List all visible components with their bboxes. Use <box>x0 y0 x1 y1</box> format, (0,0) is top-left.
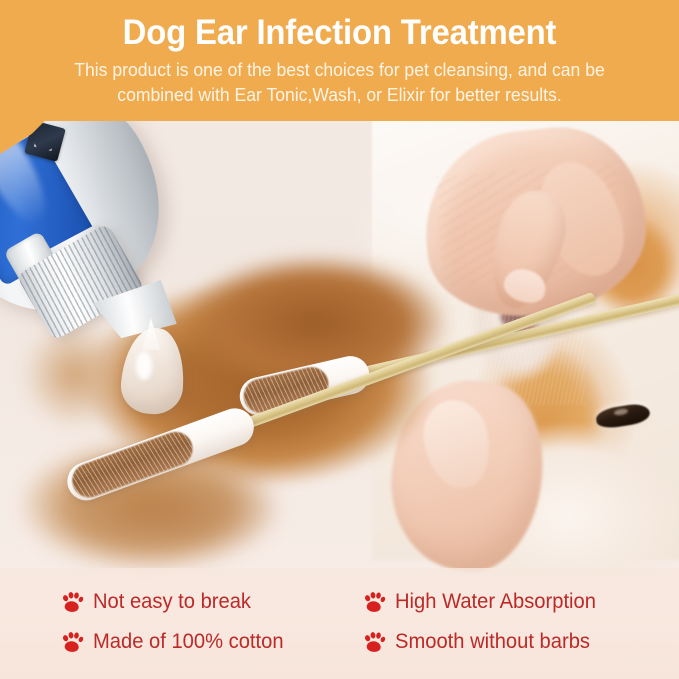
paw-print-icon <box>362 630 386 654</box>
header-subtitle-line1: This product is one of the best choices … <box>74 59 605 80</box>
stain-shadow <box>20 470 320 580</box>
feature-label: High Water Absorption <box>395 590 596 614</box>
feature-item: High Water Absorption <box>362 590 604 614</box>
feature-item: Made of 100% cotton <box>60 630 291 654</box>
feature-item: Smooth without barbs <box>362 630 598 654</box>
feature-list: Not easy to breakMade of 100% cottonHigh… <box>0 568 679 679</box>
paw-print-icon <box>60 630 84 654</box>
page-title: Dog Ear Infection Treatment <box>20 0 658 53</box>
product-infographic: Dog Ear Infection Treatment This product… <box>0 0 679 679</box>
header-subtitle-line2: combined with Ear Tonic,Wash, or Elixir … <box>117 84 561 105</box>
header-banner: Dog Ear Infection Treatment This product… <box>0 0 679 121</box>
feature-label: Made of 100% cotton <box>93 630 284 654</box>
feature-item: Not easy to break <box>60 590 258 614</box>
paw-print-icon <box>60 590 84 614</box>
liquid-droplet-highlight <box>136 352 152 380</box>
header-subtitle: This product is one of the best choices … <box>17 53 662 107</box>
paw-print-icon <box>362 590 386 614</box>
feature-label: Smooth without barbs <box>395 630 590 654</box>
feature-label: Not easy to break <box>93 590 251 614</box>
feature-grid: Not easy to breakMade of 100% cottonHigh… <box>0 568 679 679</box>
